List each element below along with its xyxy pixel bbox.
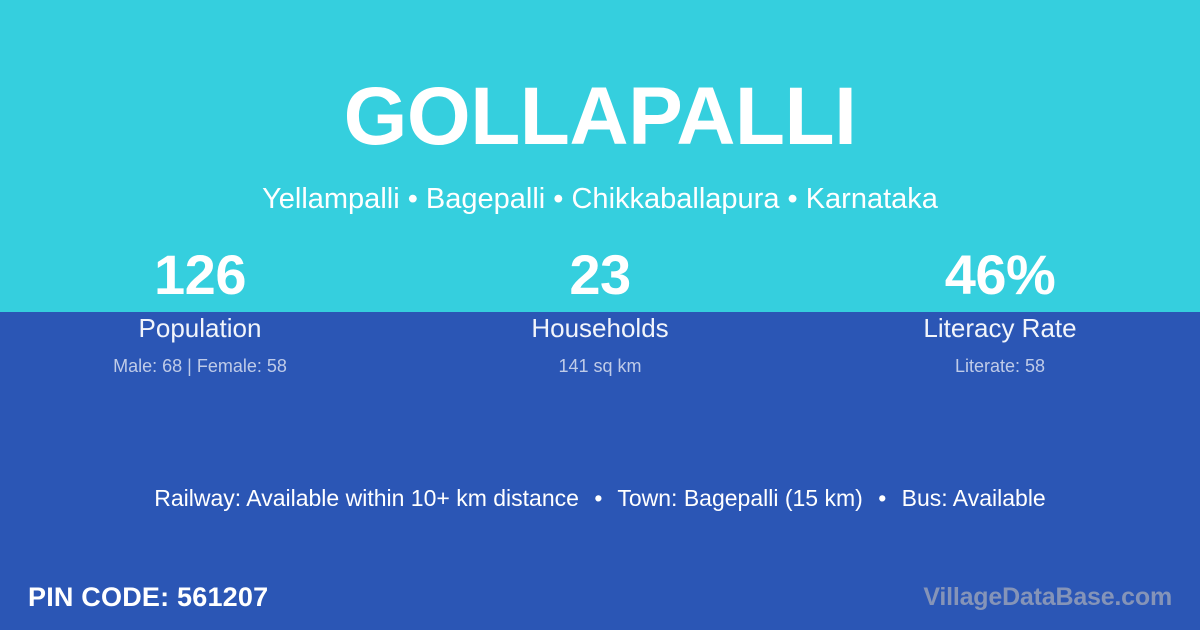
stat-label-households: Households xyxy=(400,312,800,345)
village-info-card: GOLLAPALLI Yellampalli • Bagepalli • Chi… xyxy=(0,0,1200,630)
page-title: GOLLAPALLI xyxy=(0,76,1200,158)
stat-households: 23 Households 141 sq km xyxy=(400,243,800,378)
transport-info-line: Railway: Available within 10+ km distanc… xyxy=(0,484,1200,514)
stat-sub-households: 141 sq km xyxy=(400,355,800,378)
stat-value-population: 126 xyxy=(0,243,400,307)
breadcrumb: Yellampalli • Bagepalli • Chikkaballapur… xyxy=(0,182,1200,217)
stats-row: 126 Population Male: 68 | Female: 58 23 … xyxy=(0,243,1200,378)
stat-label-population: Population xyxy=(0,312,400,345)
transport-railway: Railway: Available within 10+ km distanc… xyxy=(154,485,579,511)
stat-value-households: 23 xyxy=(400,243,800,307)
stat-value-literacy-rate: 46% xyxy=(800,243,1200,307)
transport-bus: Bus: Available xyxy=(902,485,1046,511)
stat-sub-population: Male: 68 | Female: 58 xyxy=(0,355,400,378)
stat-literacy-rate: 46% Literacy Rate Literate: 58 xyxy=(800,243,1200,378)
stat-population: 126 Population Male: 68 | Female: 58 xyxy=(0,243,400,378)
stat-label-literacy-rate: Literacy Rate xyxy=(800,312,1200,345)
pin-code: PIN CODE: 561207 xyxy=(28,582,268,613)
brand-watermark: VillageDataBase.com xyxy=(923,583,1172,612)
bullet-separator-icon: • xyxy=(585,484,611,514)
footer: PIN CODE: 561207 VillageDataBase.com xyxy=(0,575,1200,620)
stat-sub-literacy-rate: Literate: 58 xyxy=(800,355,1200,378)
bullet-separator-icon: • xyxy=(869,484,895,514)
transport-town: Town: Bagepalli (15 km) xyxy=(617,485,862,511)
